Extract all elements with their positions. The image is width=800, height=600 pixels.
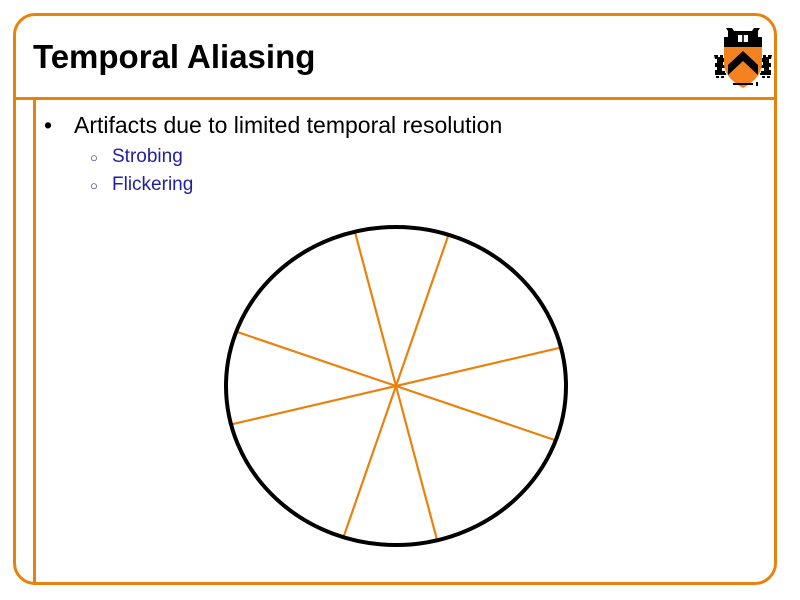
bullet-marker-circle-icon: ○: [90, 172, 112, 200]
bullet-marker-disc: •: [44, 110, 74, 140]
bullet-marker-circle-icon: ○: [90, 144, 112, 172]
sub-bullet-list: ○ Strobing ○ Flickering: [44, 144, 744, 200]
sub-bullet-text-strobing: Strobing: [112, 144, 183, 170]
bullet-list: • Artifacts due to limited temporal reso…: [44, 110, 744, 200]
body-left-rule: [33, 100, 36, 585]
wheel-spoke: [396, 348, 561, 386]
page-title: Temporal Aliasing: [33, 38, 315, 76]
sub-bullet-text-flickering: Flickering: [112, 172, 193, 198]
wheel-spoke: [355, 232, 396, 386]
wheel-spokes-group: [231, 232, 561, 541]
wagon-wheel-figure: [220, 218, 576, 554]
wheel-spoke: [396, 386, 437, 540]
wheel-spoke: [396, 386, 556, 440]
bullet-text-primary: Artifacts due to limited temporal resolu…: [74, 110, 502, 140]
princeton-shield-icon: [712, 25, 774, 91]
wheel-spoke: [396, 235, 449, 386]
title-divider-rule: [13, 97, 777, 100]
sub-bullet-item-strobing: ○ Strobing: [90, 144, 744, 172]
wheel-spoke: [236, 332, 396, 386]
slide-canvas: Temporal Aliasing: [0, 0, 800, 600]
wheel-spoke: [231, 386, 396, 424]
sub-bullet-item-flickering: ○ Flickering: [90, 172, 744, 200]
wheel-spoke: [343, 386, 396, 537]
bullet-item-primary: • Artifacts due to limited temporal reso…: [44, 110, 744, 140]
